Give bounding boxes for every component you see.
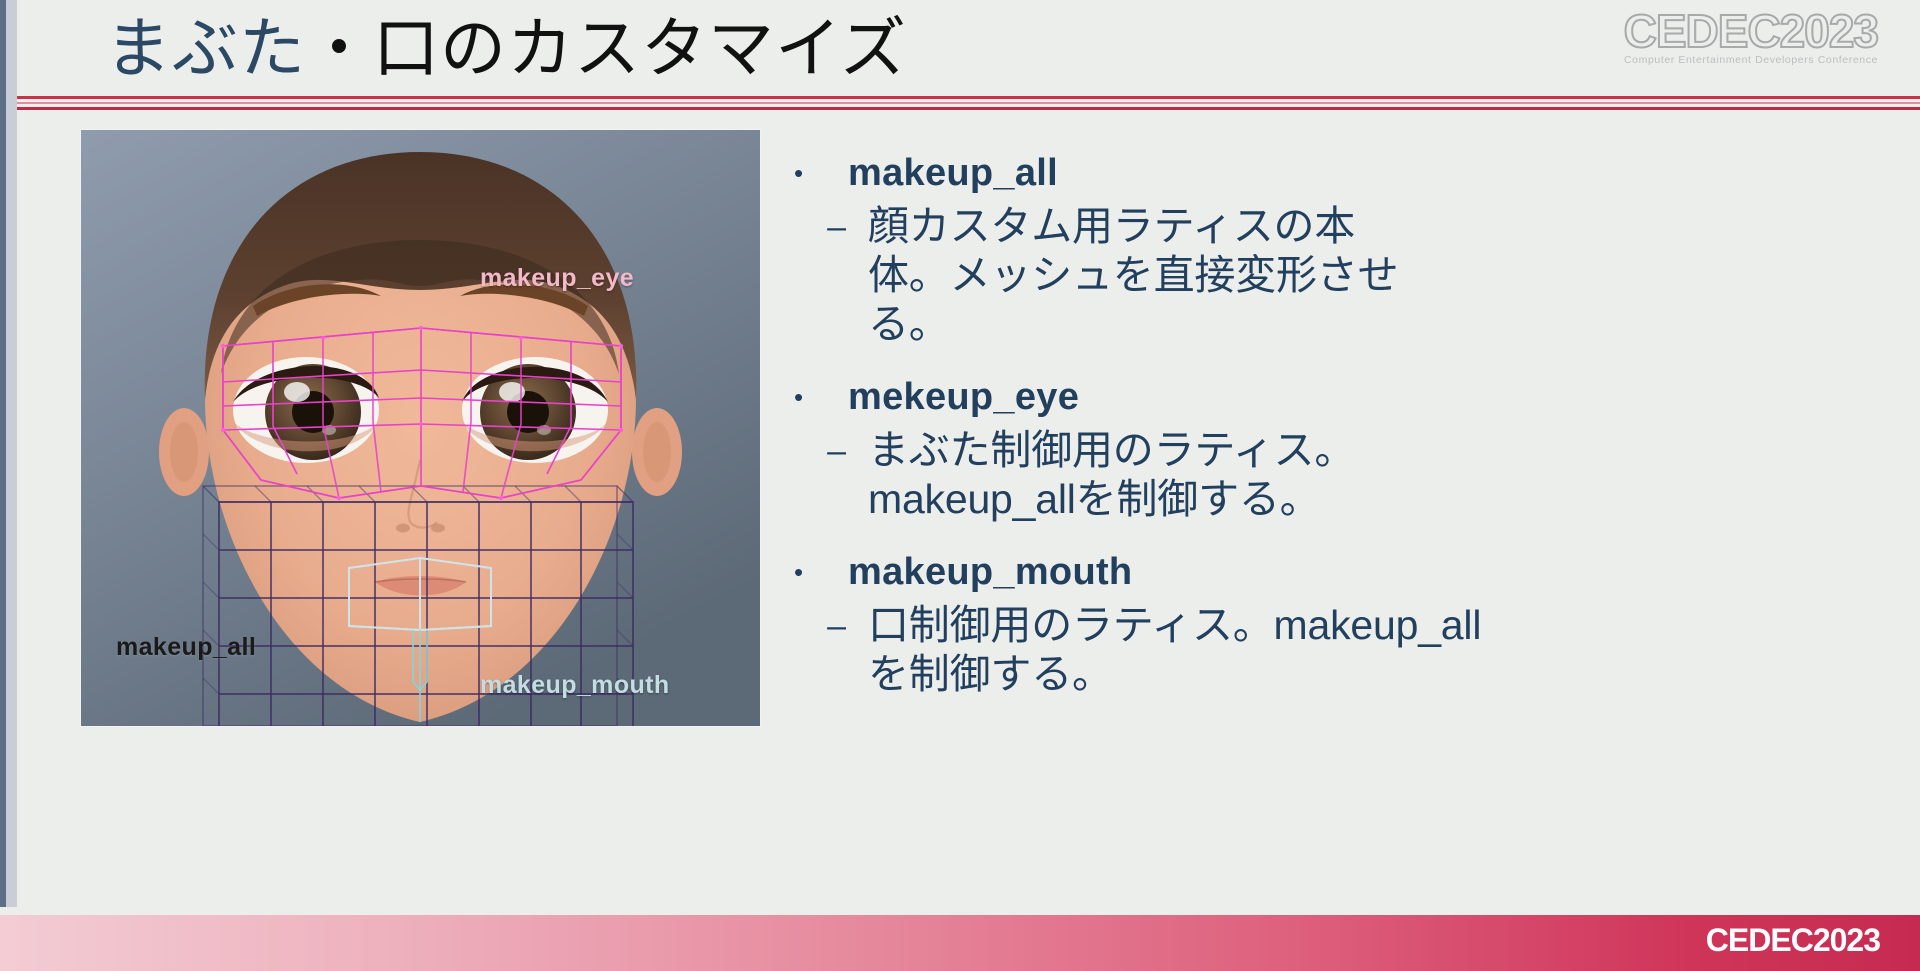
bullet-dot-icon: •: [786, 146, 848, 200]
banner-gap: [0, 907, 1920, 915]
sub-bullet-row: – まぶた制御用のラティス。makeup_allを制御する。: [786, 426, 1886, 524]
bullet-title-makeup-all: makeup_all: [848, 146, 1058, 200]
bullet-row: • mekeup_eye: [786, 370, 1886, 424]
divider-line-top: [17, 96, 1920, 99]
sub-bullet-dash-icon: –: [786, 601, 868, 651]
viewport-label-makeup-all: makeup_all: [116, 633, 256, 662]
bullet-block-makeup-mouth: • makeup_mouth – 口制御用のラティス。makeup_allを制御…: [786, 545, 1886, 699]
page-title-navy-part: まぶた: [105, 11, 306, 85]
bullet-dot-icon: •: [786, 545, 848, 599]
cedec-logo-top-subtitle: Computer Entertainment Developers Confer…: [1578, 54, 1878, 66]
sub-bullet-text-mekeup-eye: まぶた制御用のラティス。makeup_allを制御する。: [868, 426, 1488, 524]
bullet-list: • makeup_all – 顔カスタム用ラティスの本体。メッシュを直接変形させ…: [786, 146, 1886, 720]
page-title: まぶた・口のカスタマイズ: [105, 3, 907, 93]
divider-line-bottom: [17, 107, 1920, 110]
sub-bullet-text-makeup-mouth: 口制御用のラティス。makeup_allを制御する。: [868, 601, 1488, 699]
bullet-row: • makeup_mouth: [786, 545, 1886, 599]
cedec-logo-top-text: CEDEC2023: [1578, 6, 1878, 56]
viewport-label-makeup-eye: makeup_eye: [480, 264, 634, 293]
page-title-black-part: ・口のカスタマイズ: [306, 11, 907, 85]
bullet-row: • makeup_all: [786, 146, 1886, 200]
cedec-logo-bottom: CEDEC2023: [1706, 922, 1880, 958]
sub-bullet-row: – 口制御用のラティス。makeup_allを制御する。: [786, 601, 1886, 699]
sub-bullet-text-makeup-all: 顔カスタム用ラティスの本体。メッシュを直接変形させる。: [868, 202, 1428, 349]
maya-viewport-screenshot: makeup_eye makeup_all makeup_mouth: [81, 130, 760, 726]
bullet-title-mekeup-eye: mekeup_eye: [848, 370, 1079, 424]
sub-bullet-dash-icon: –: [786, 426, 868, 476]
sub-bullet-dash-icon: –: [786, 202, 868, 252]
bullet-dot-icon: •: [786, 370, 848, 424]
sub-bullet-row: – 顔カスタム用ラティスの本体。メッシュを直接変形させる。: [786, 202, 1886, 349]
title-divider: [17, 96, 1920, 118]
viewport-label-makeup-mouth: makeup_mouth: [480, 671, 670, 700]
bottom-banner: CEDEC2023: [0, 915, 1920, 971]
bullet-block-makeup-all: • makeup_all – 顔カスタム用ラティスの本体。メッシュを直接変形させ…: [786, 146, 1886, 349]
divider-line-middle: [17, 102, 1920, 104]
bullet-title-makeup-mouth: makeup_mouth: [848, 545, 1132, 599]
left-edge-strip-light: [6, 0, 17, 971]
cedec-logo-top: CEDEC2023 Computer Entertainment Develop…: [1578, 6, 1878, 78]
bullet-block-mekeup-eye: • mekeup_eye – まぶた制御用のラティス。makeup_allを制御…: [786, 370, 1886, 524]
